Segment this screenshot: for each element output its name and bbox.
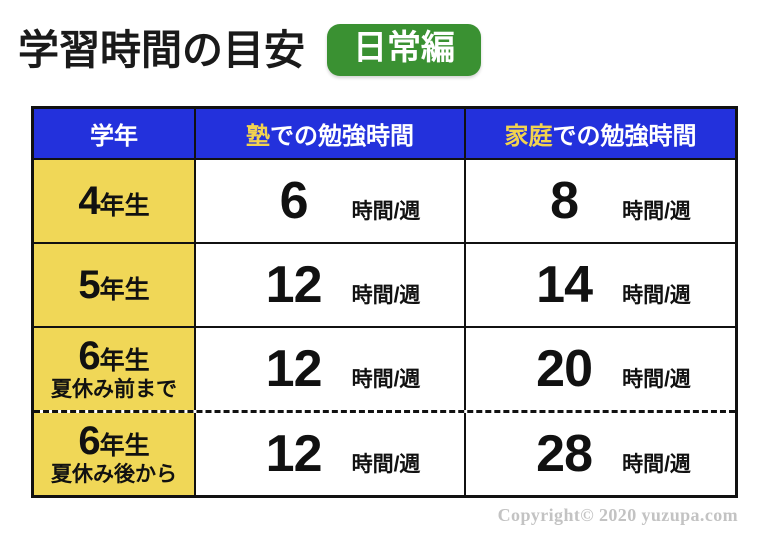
column-header-juku: 塾での勉強時間 <box>194 109 464 158</box>
grade-suffix: 年生 <box>100 432 150 460</box>
home-hours-unit: 時間/週 <box>622 195 691 225</box>
column-header-grade-label: 学年 <box>90 116 138 151</box>
grade-label: 6年生 <box>78 336 149 376</box>
home-hours-unit: 時間/週 <box>622 363 691 393</box>
study-time-table: 学年 塾での勉強時間 家庭での勉強時間 4年生 6 時間/週 8 時間/週 <box>31 106 738 498</box>
title-bar: 学習時間の目安 日常編 <box>0 0 768 100</box>
grade-cell: 6年生 夏休み後から <box>34 413 194 495</box>
home-hours-cell: 8 時間/週 <box>464 160 735 242</box>
juku-hours-cell: 12 時間/週 <box>194 413 464 495</box>
home-hours-value: 20 <box>516 343 612 395</box>
grade-cell: 4年生 <box>34 160 194 242</box>
home-hours-cell: 14 時間/週 <box>464 244 735 326</box>
table-row: 4年生 6 時間/週 8 時間/週 <box>34 158 735 242</box>
grade-number: 4 <box>78 179 99 223</box>
juku-hours-unit: 時間/週 <box>352 279 421 309</box>
juku-hours-value: 12 <box>246 343 342 395</box>
juku-hours-value: 6 <box>246 175 342 227</box>
page-title: 学習時間の目安 <box>18 30 305 71</box>
column-header-home-highlight: 家庭 <box>505 116 553 151</box>
grade-cell: 5年生 <box>34 244 194 326</box>
home-hours-cell: 28 時間/週 <box>464 413 735 495</box>
grade-note: 夏休み前まで <box>51 378 177 402</box>
grade-note: 夏休み後から <box>51 463 177 487</box>
column-header-home-label: での勉強時間 <box>553 116 697 151</box>
table-row: 5年生 12 時間/週 14 時間/週 <box>34 242 735 326</box>
grade-label: 5年生 <box>78 265 149 305</box>
grade-suffix: 年生 <box>100 276 150 304</box>
juku-hours-cell: 12 時間/週 <box>194 244 464 326</box>
juku-hours-unit: 時間/週 <box>352 448 421 478</box>
copyright-notice: Copyright© 2020 yuzupa.com <box>498 505 738 526</box>
juku-hours-unit: 時間/週 <box>352 363 421 393</box>
table-row: 6年生 夏休み後から 12 時間/週 28 時間/週 <box>34 410 735 495</box>
column-header-grade: 学年 <box>34 109 194 158</box>
juku-hours-value: 12 <box>246 259 342 311</box>
home-hours-unit: 時間/週 <box>622 279 691 309</box>
home-hours-value: 28 <box>516 428 612 480</box>
column-header-juku-highlight: 塾 <box>246 116 270 151</box>
home-hours-cell: 20 時間/週 <box>464 328 735 410</box>
grade-number: 6 <box>78 419 99 463</box>
grade-label: 6年生 <box>78 421 149 461</box>
grade-cell: 6年生 夏休み前まで <box>34 328 194 410</box>
juku-hours-unit: 時間/週 <box>352 195 421 225</box>
section-badge: 日常編 <box>327 24 481 76</box>
grade-suffix: 年生 <box>100 347 150 375</box>
grade-suffix: 年生 <box>100 192 150 220</box>
juku-hours-value: 12 <box>246 428 342 480</box>
table-row: 6年生 夏休み前まで 12 時間/週 20 時間/週 <box>34 326 735 410</box>
column-header-juku-label: での勉強時間 <box>270 116 414 151</box>
grade-number: 5 <box>78 263 99 307</box>
grade-number: 6 <box>78 334 99 378</box>
grade-label: 4年生 <box>78 181 149 221</box>
home-hours-value: 14 <box>516 259 612 311</box>
table-header-row: 学年 塾での勉強時間 家庭での勉強時間 <box>34 109 735 158</box>
column-header-home: 家庭での勉強時間 <box>464 109 735 158</box>
juku-hours-cell: 6 時間/週 <box>194 160 464 242</box>
home-hours-value: 8 <box>516 175 612 227</box>
home-hours-unit: 時間/週 <box>622 448 691 478</box>
juku-hours-cell: 12 時間/週 <box>194 328 464 410</box>
